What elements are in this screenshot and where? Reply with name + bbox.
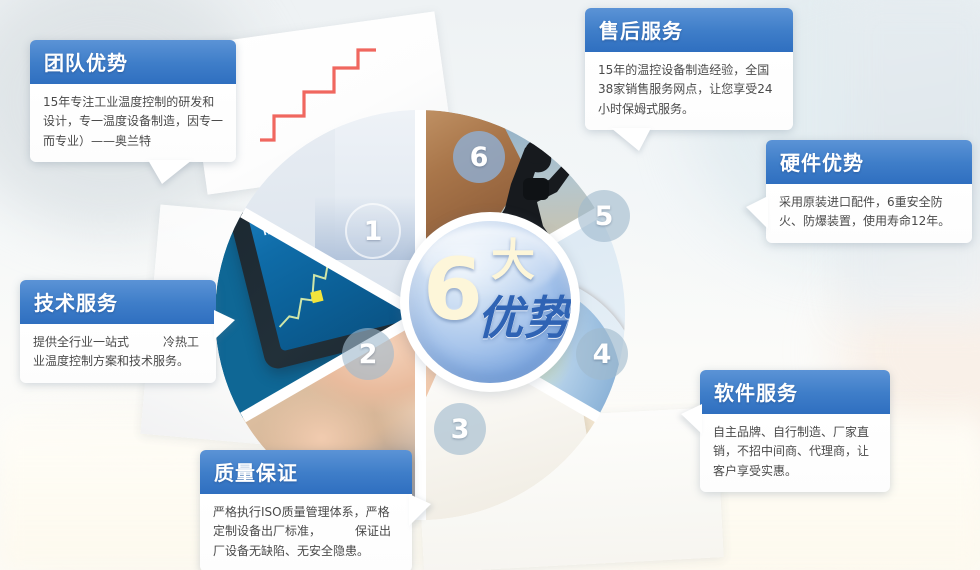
callout-body-line2b: 保证出 [355,524,391,538]
callout-body: 采用原装进口配件，6重安全防火、防爆装置，使用寿命12年。 [766,184,972,243]
callout-body: 15年专注工业温度控制的研发和设计，专一温度设备制造，因专一而专业）——奥兰特 [30,84,236,162]
callout-body-line1: 提供全行业一站式 [33,335,129,349]
callout-body-line1: 严格执行ISO质量管理体系，严格 [213,505,390,519]
callout-technical-service[interactable]: 技术服务 提供全行业一站式冷热工业温度控制方案和技术服务。 [20,280,216,383]
callout-hardware-advantage[interactable]: 硬件优势 采用原装进口配件，6重安全防火、防爆装置，使用寿命12年。 [766,140,972,243]
callout-tail [148,160,192,184]
callout-title: 技术服务 [20,280,216,324]
marker-2[interactable]: 2 [342,328,394,380]
callout-software-service[interactable]: 软件服务 自主品牌、自行制造、厂家直销，不招中间商、代理商，让客户享受实惠。 [700,370,890,492]
callout-tail [611,128,651,151]
callout-tail [681,404,702,434]
callout-body: 15年的温控设备制造经验，全国38家销售服务网点，让您享受24小时保姆式服务。 [585,52,793,130]
marker-1[interactable]: 1 [345,203,401,259]
callout-title: 团队优势 [30,40,236,84]
callout-title: 硬件优势 [766,140,972,184]
marker-4[interactable]: 4 [576,328,628,380]
infographic-canvas: INTC [0,0,980,570]
callout-tail [409,494,431,526]
callout-title: 软件服务 [700,370,890,414]
center-big-char: 大 [491,239,535,283]
callout-quality-assurance[interactable]: 质量保证 严格执行ISO质量管理体系，严格定制设备出厂标准，保证出厂设备无缺陷、… [200,450,412,570]
callout-tail [746,196,768,229]
callout-tail [214,310,235,340]
center-medallion-inner: 6 大 优势 [409,221,571,383]
callout-body-line3: 厂设备无缺陷、无安全隐患。 [213,544,369,558]
marker-3[interactable]: 3 [434,403,486,455]
callout-body: 提供全行业一站式冷热工业温度控制方案和技术服务。 [20,324,216,383]
center-script-text: 优势 [477,293,571,343]
callout-body: 自主品牌、自行制造、厂家直销，不招中间商、代理商，让客户享受实惠。 [700,414,890,492]
callout-body: 严格执行ISO质量管理体系，严格定制设备出厂标准，保证出厂设备无缺陷、无安全隐患… [200,494,412,570]
marker-5[interactable]: 5 [578,190,630,242]
callout-body-line2: 温度控制方案和技术服务。 [45,354,189,368]
callout-body-line2: 定制设备出厂标准， [213,524,321,538]
center-medallion: 6 大 优势 [400,212,580,392]
callout-title: 质量保证 [200,450,412,494]
callout-title: 售后服务 [585,8,793,52]
callout-team-advantage[interactable]: 团队优势 15年专注工业温度控制的研发和设计，专一温度设备制造，因专一而专业）—… [30,40,236,162]
callout-after-sales[interactable]: 售后服务 15年的温控设备制造经验，全国38家销售服务网点，让您享受24小时保姆… [585,8,793,130]
marker-6[interactable]: 6 [453,131,505,183]
center-number: 6 [423,247,483,333]
